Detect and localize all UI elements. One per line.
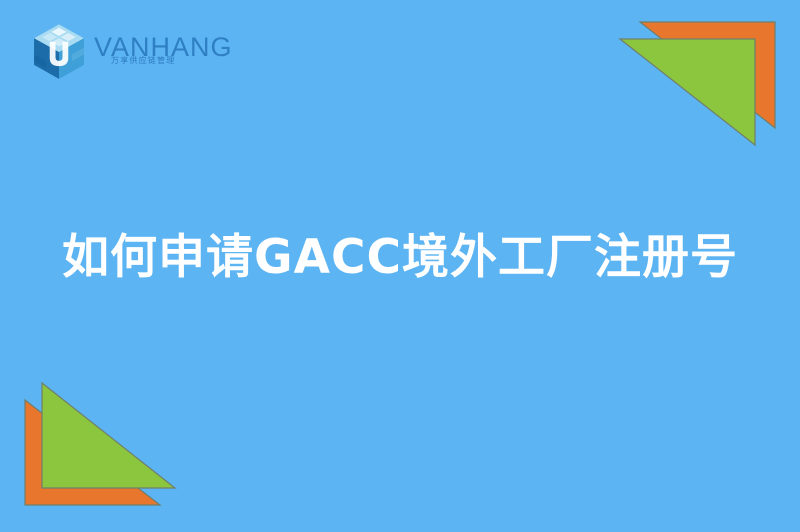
slide-title: 如何申请GACC境外工厂注册号 (62, 228, 738, 288)
logo-text-block: VANHANG 万享供应链管理 (94, 28, 215, 74)
bottom-left-green-triangle (42, 383, 175, 488)
logo-subtitle: 万享供应链管理 (111, 56, 175, 66)
top-right-green-triangle (620, 39, 755, 145)
cube-logo-icon (30, 22, 88, 80)
title-container: 如何申请GACC境外工厂注册号 (0, 228, 800, 288)
top-right-orange-triangle (640, 22, 775, 128)
bottom-left-orange-triangle (25, 400, 160, 505)
brand-logo: VANHANG 万享供应链管理 (30, 22, 215, 80)
slide-canvas: VANHANG 万享供应链管理 如何申请GACC境外工厂注册号 (0, 0, 800, 532)
